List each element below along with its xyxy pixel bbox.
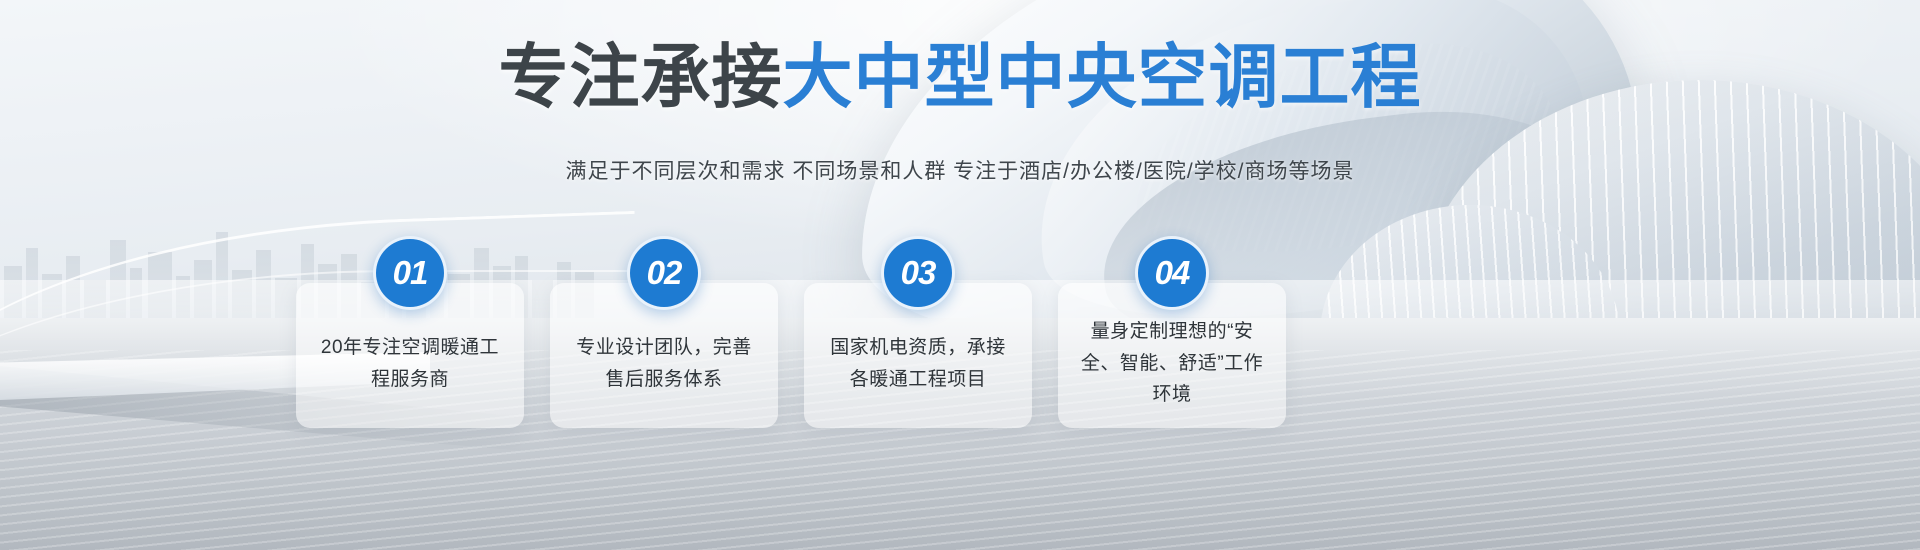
feature-card-text: 20年专注空调暖通工程服务商 [318, 316, 502, 395]
feature-card-text: 专业设计团队，完善售后服务体系 [572, 316, 756, 395]
feature-card[interactable]: 04 量身定制理想的“安全、智能、舒适”工作环境 [1058, 283, 1286, 428]
step-badge-03: 03 [881, 236, 955, 310]
headline-part-blue: 大中型中央空调工程 [783, 38, 1422, 116]
step-badge-04: 04 [1135, 236, 1209, 310]
step-badge-01: 01 [373, 236, 447, 310]
feature-card[interactable]: 01 20年专注空调暖通工程服务商 [296, 283, 524, 428]
feature-card[interactable]: 02 专业设计团队，完善售后服务体系 [550, 283, 778, 428]
feature-card[interactable]: 03 国家机电资质，承接各暖通工程项目 [804, 283, 1032, 428]
feature-card-text: 国家机电资质，承接各暖通工程项目 [826, 316, 1010, 395]
step-number: 01 [393, 254, 428, 292]
step-number: 03 [901, 254, 936, 292]
step-number: 04 [1155, 254, 1190, 292]
hero-banner: 专注承接大中型中央空调工程 满足于不同层次和需求 不同场景和人群 专注于酒店/办… [0, 0, 1920, 550]
banner-content: 专注承接大中型中央空调工程 满足于不同层次和需求 不同场景和人群 专注于酒店/办… [0, 0, 1920, 550]
step-badge-02: 02 [627, 236, 701, 310]
step-number: 02 [647, 254, 682, 292]
feature-card-text: 量身定制理想的“安全、智能、舒适”工作环境 [1080, 300, 1264, 410]
feature-card-list: 01 20年专注空调暖通工程服务商 02 专业设计团队，完善售后服务体系 03 … [296, 283, 1576, 428]
banner-headline: 专注承接大中型中央空调工程 [0, 42, 1920, 112]
headline-part-dark: 专注承接 [499, 38, 783, 116]
banner-subheadline: 满足于不同层次和需求 不同场景和人群 专注于酒店/办公楼/医院/学校/商场等场景 [0, 155, 1920, 185]
